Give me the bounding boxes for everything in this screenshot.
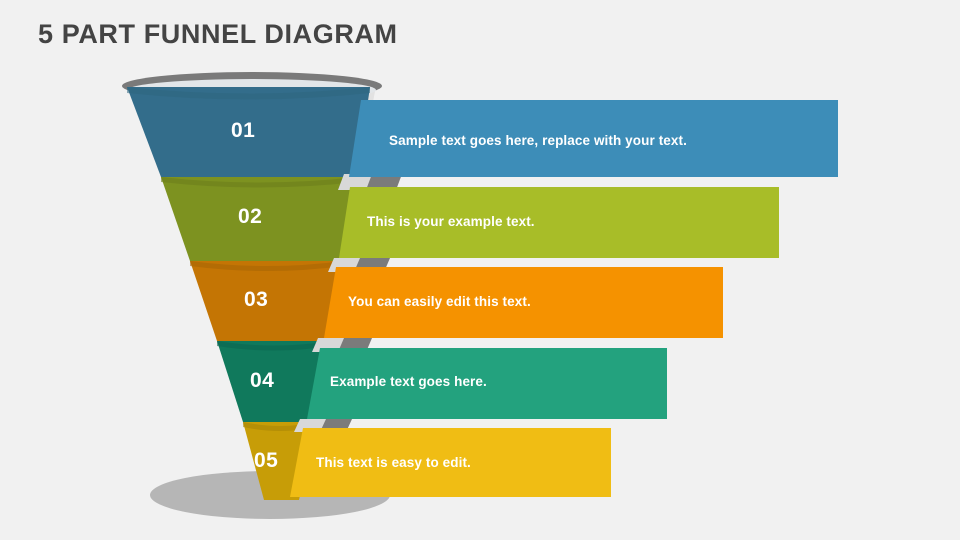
step-number-3: 03	[244, 288, 268, 312]
step-bar-label-2: This is your example text.	[367, 214, 535, 229]
slide-canvas: 5 PART FUNNEL DIAGRAM 01 02 03 04 05	[0, 0, 960, 540]
step-bar-label-4: Example text goes here.	[330, 374, 487, 389]
step-bar-label-3: You can easily edit this text.	[348, 294, 531, 309]
step-number-5: 05	[254, 449, 278, 473]
step-number-2: 02	[238, 205, 262, 229]
funnel-diagram-graphic	[0, 0, 960, 540]
step-number-4: 04	[250, 369, 274, 393]
step-number-1: 01	[231, 119, 255, 143]
step-bar-label-5: This text is easy to edit.	[316, 455, 471, 470]
step-bar-label-1: Sample text goes here, replace with your…	[389, 133, 687, 148]
